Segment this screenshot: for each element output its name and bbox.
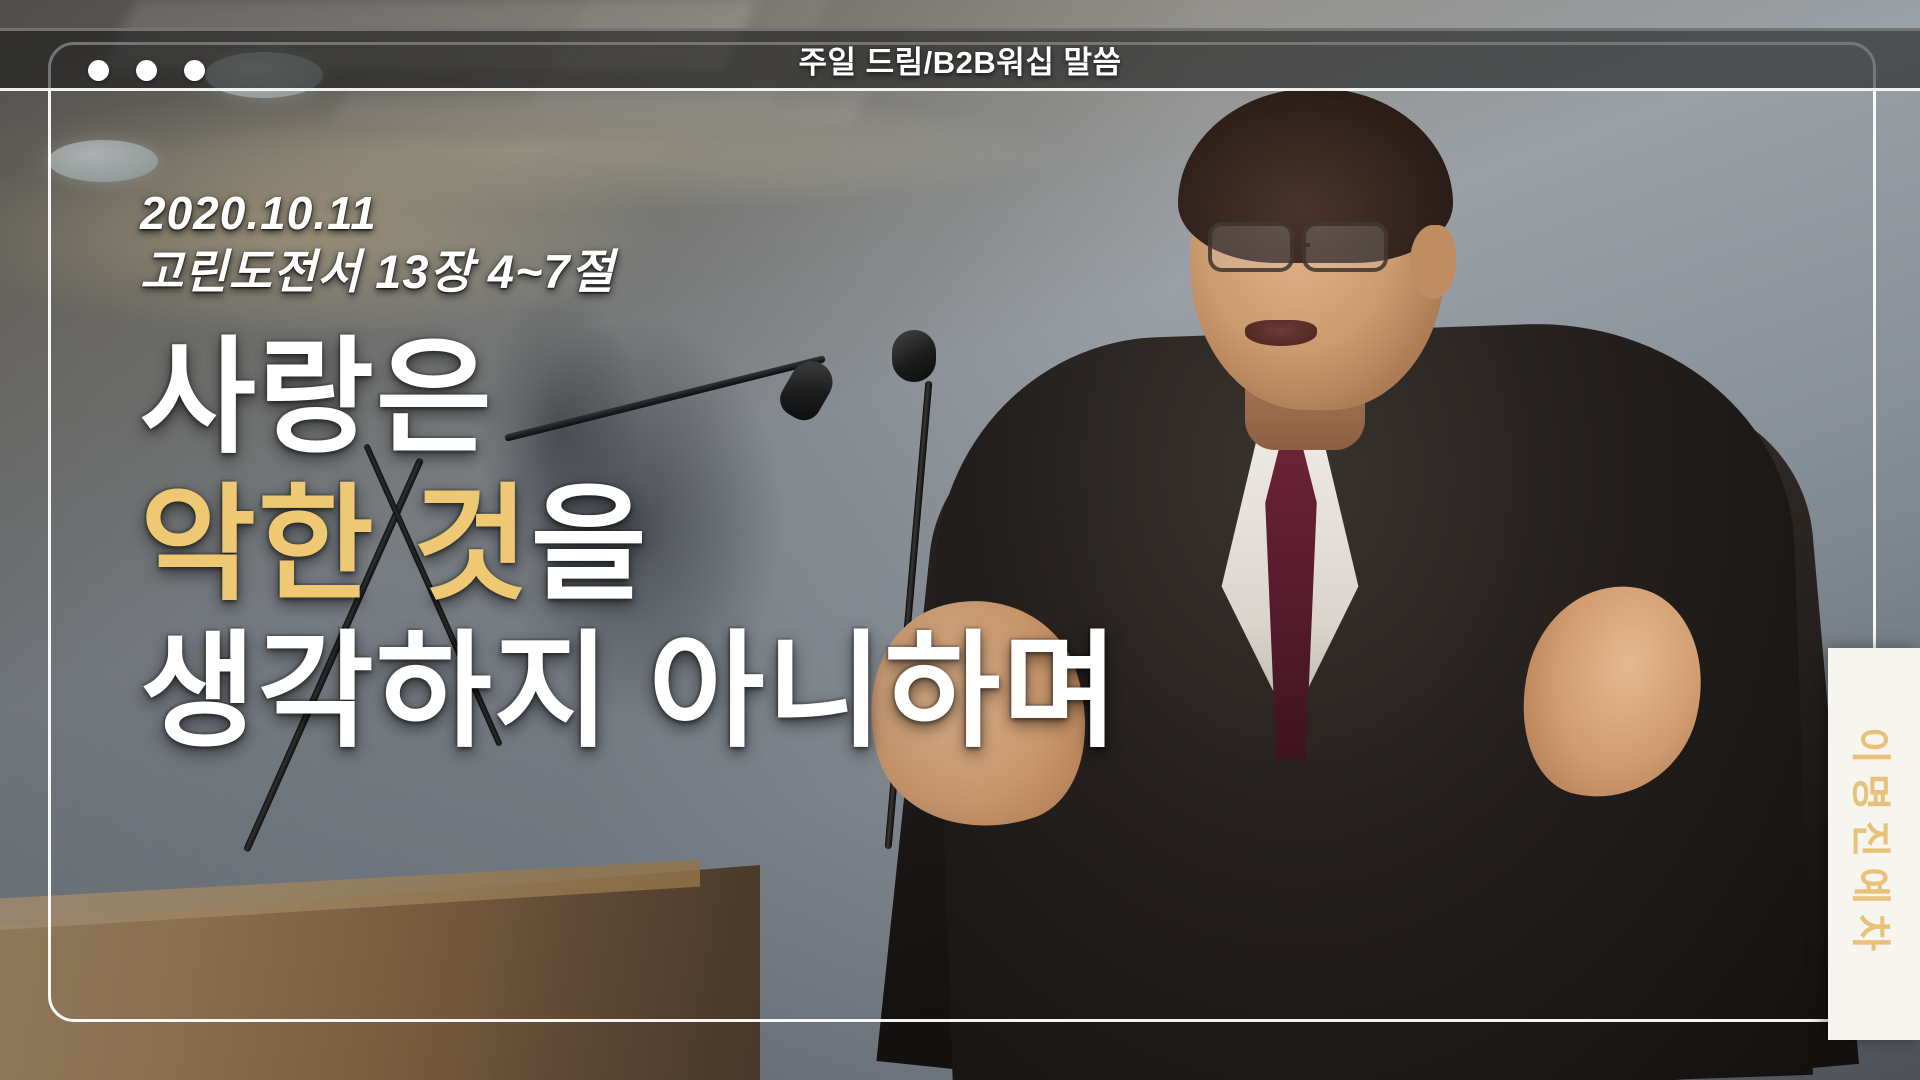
ceiling-dome-light-2 xyxy=(48,140,158,182)
speaker-name-panel: 이명진예차 xyxy=(1828,648,1920,1040)
sermon-title-slide: 주일 드림/B2B워십 말씀 2020.10.11 고린도전서 13장 4~7절… xyxy=(0,0,1920,1080)
header-rule-bottom xyxy=(0,88,1920,91)
sermon-title-line-1: 사랑은 xyxy=(140,327,1560,468)
sermon-text-block: 2020.10.11 고린도전서 13장 4~7절 사랑은 악한 것을 생각하지… xyxy=(140,188,1560,762)
window-dot-icon-3 xyxy=(184,60,205,81)
sermon-title-line-2: 악한 것을 xyxy=(140,474,1560,615)
sermon-title-line-2-white: 을 xyxy=(531,474,649,615)
window-dots xyxy=(88,60,205,81)
sermon-date: 2020.10.11 xyxy=(140,188,1560,240)
window-dot-icon-1 xyxy=(88,60,109,81)
speaker-name-vertical: 이명진예차 xyxy=(1845,727,1903,961)
header-title: 주일 드림/B2B워십 말씀 xyxy=(798,37,1121,82)
scripture-reference: 고린도전서 13장 4~7절 xyxy=(140,244,1560,299)
sermon-title-line-3: 생각하지 아니하며 xyxy=(140,621,1560,762)
sermon-title-line-2-gold: 악한 것 xyxy=(140,474,531,615)
header-bar: 주일 드림/B2B워십 말씀 xyxy=(0,28,1920,90)
window-dot-icon-2 xyxy=(136,60,157,81)
sermon-title: 사랑은 악한 것을 생각하지 아니하며 xyxy=(140,327,1560,762)
